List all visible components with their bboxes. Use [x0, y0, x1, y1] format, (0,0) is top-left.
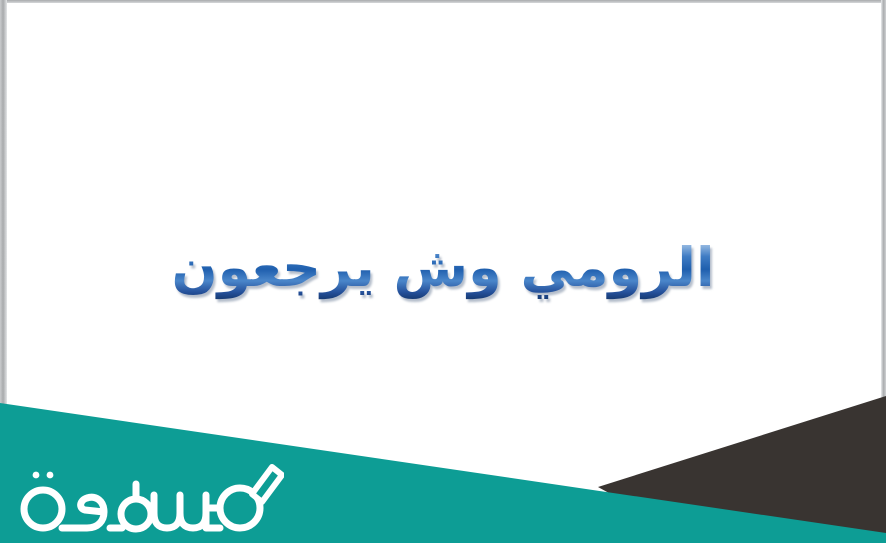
logo-glyph-seen: [154, 495, 206, 528]
brand-logo-artwork: موسوعة: [14, 451, 284, 537]
dark-diagonal-triangle: [598, 396, 886, 543]
canvas-border-top: [0, 0, 886, 3]
canvas-border-right: [881, 0, 886, 400]
brand-logo[interactable]: موسوعة: [14, 451, 284, 537]
magnifier-icon: [252, 467, 282, 502]
page-title-text: الرومي وش يرجعون: [172, 236, 715, 300]
canvas-border-left: [0, 0, 7, 410]
slide-canvas: الرومي وش يرجعون الرومي وش يرجعون: [0, 0, 886, 543]
page-title: الرومي وش يرجعون: [0, 236, 886, 300]
logo-glyph-ain: [62, 497, 104, 528]
logo-glyph-ta-marbuta: [24, 490, 62, 528]
logo-dot-left: [33, 472, 40, 479]
logo-dot-right: [47, 472, 54, 479]
